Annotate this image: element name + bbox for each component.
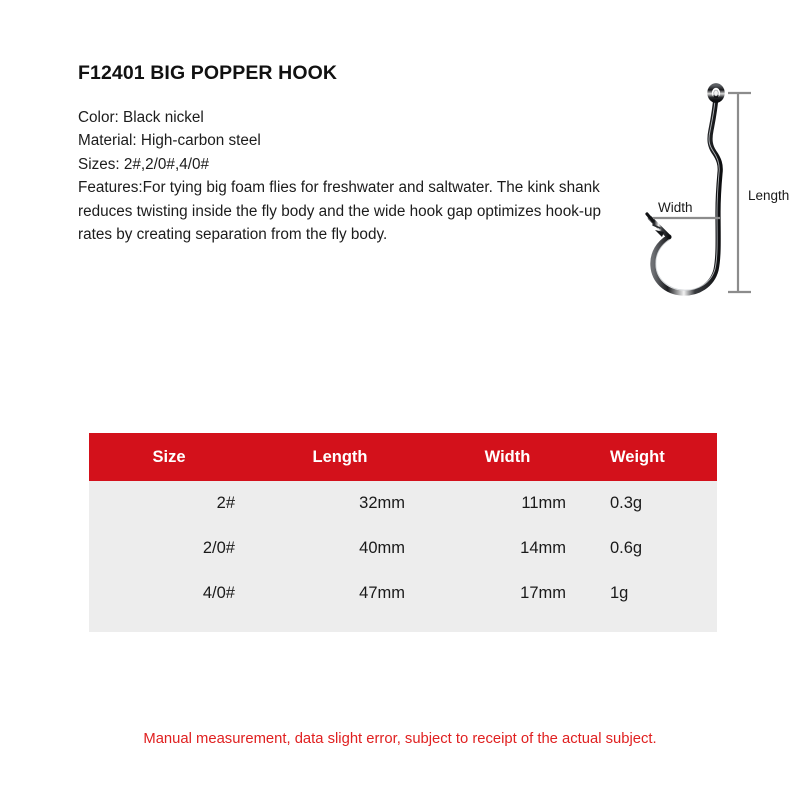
measurement-disclaimer: Manual measurement, data slight error, s… <box>0 731 800 747</box>
cell-weight: 0.3g <box>584 494 717 513</box>
column-header-weight: Weight <box>584 448 717 467</box>
product-spec-page: F12401 BIG POPPER HOOK Color: Black nick… <box>0 0 800 800</box>
spec-sizes-line: Sizes: 2#,2/0#,4/0# <box>78 153 608 176</box>
product-description: Color: Black nickel Material: High-carbo… <box>78 106 608 246</box>
cell-size: 2# <box>89 494 249 513</box>
hook-diagram: Length Width <box>620 80 800 315</box>
column-header-width: Width <box>431 448 584 467</box>
table-row: 2# 32mm 11mm 0.3g <box>89 481 717 526</box>
cell-width: 11mm <box>431 494 584 513</box>
cell-length: 47mm <box>249 584 431 603</box>
table-body: 2# 32mm 11mm 0.3g 2/0# 40mm 14mm 0.6g 4/… <box>89 481 717 632</box>
cell-weight: 1g <box>584 584 717 603</box>
column-header-length: Length <box>249 448 431 467</box>
table-row: 4/0# 47mm 17mm 1g <box>89 571 717 616</box>
cell-size: 4/0# <box>89 584 249 603</box>
cell-length: 32mm <box>249 494 431 513</box>
column-header-size: Size <box>89 448 249 467</box>
table-header-row: Size Length Width Weight <box>89 433 717 481</box>
spec-material-line: Material: High-carbon steel <box>78 129 608 152</box>
cell-size: 2/0# <box>89 539 249 558</box>
length-dimension-label: Length <box>748 188 789 203</box>
cell-width: 14mm <box>431 539 584 558</box>
spec-features-line: Features:For tying big foam flies for fr… <box>78 176 608 246</box>
width-dimension-label: Width <box>658 200 693 215</box>
table-row: 2/0# 40mm 14mm 0.6g <box>89 526 717 571</box>
cell-width: 17mm <box>431 584 584 603</box>
cell-length: 40mm <box>249 539 431 558</box>
cell-weight: 0.6g <box>584 539 717 558</box>
specification-table: Size Length Width Weight 2# 32mm 11mm 0.… <box>89 433 717 632</box>
spec-color-line: Color: Black nickel <box>78 106 608 129</box>
page-title: F12401 BIG POPPER HOOK <box>78 62 337 85</box>
